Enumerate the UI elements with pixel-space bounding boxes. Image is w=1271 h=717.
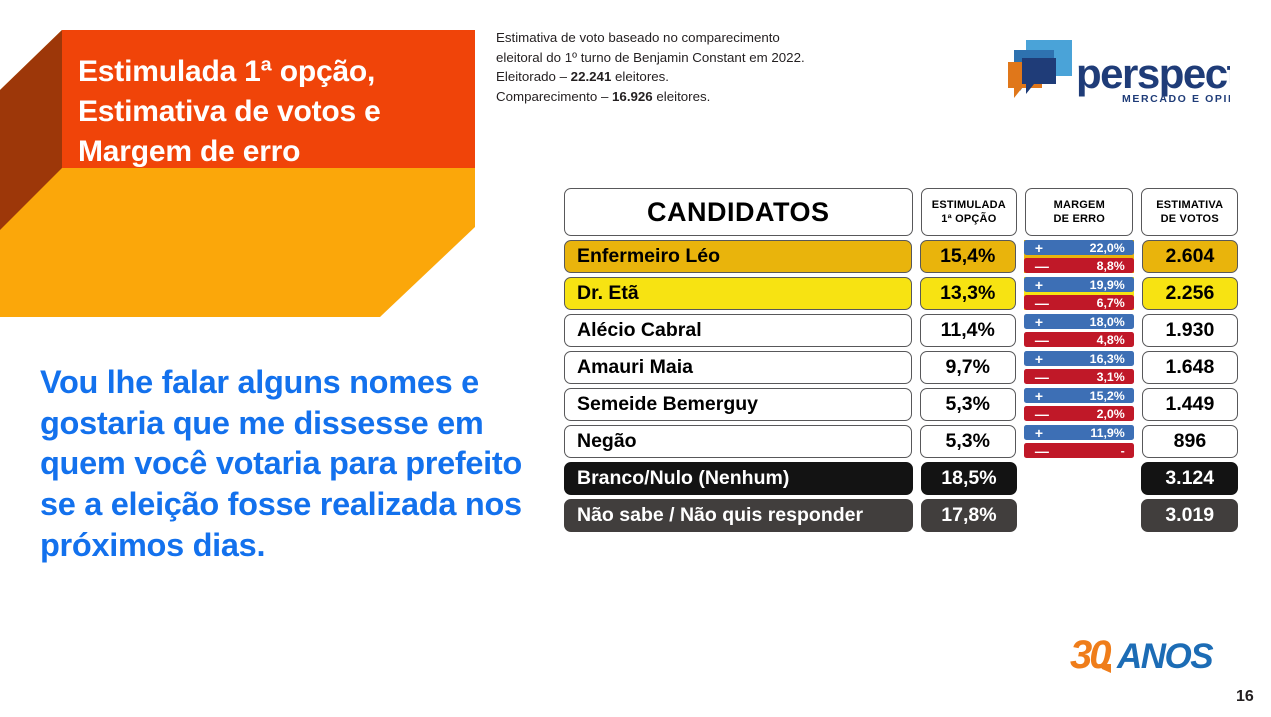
candidate-name: Negão — [564, 425, 912, 458]
candidate-percentage: 17,8% — [921, 499, 1018, 532]
margin-plus-value: 11,9% — [1090, 426, 1124, 440]
table-row: Dr. Etã13,3%+19,9%—6,7%2.256 — [564, 277, 1238, 310]
turnout-label: Comparecimento – — [496, 89, 612, 104]
margin-plus-value: 15,2% — [1090, 389, 1125, 403]
estimated-votes: 3.124 — [1141, 462, 1238, 495]
candidate-percentage: 9,7% — [920, 351, 1016, 384]
minus-sign-icon: — — [1035, 259, 1049, 273]
margin-plus-value: 22,0% — [1090, 241, 1125, 255]
plus-sign-icon: + — [1035, 241, 1043, 255]
estimated-votes: 1.449 — [1142, 388, 1238, 421]
margin-of-error-cell: +15,2%—2,0% — [1024, 388, 1134, 421]
table-row: Negão5,3%+11,9%—-896 — [564, 425, 1238, 458]
table-row: Não sabe / Não quis responder17,8%3.019 — [564, 499, 1238, 532]
turnout-suffix: eleitores. — [653, 89, 711, 104]
margin-plus-value: 18,0% — [1090, 315, 1125, 329]
header-estimulada: ESTIMULADA 1ª OPÇÃO — [921, 188, 1018, 236]
table-row: Alécio Cabral11,4%+18,0%—4,8%1.930 — [564, 314, 1238, 347]
candidate-name: Branco/Nulo (Nenhum) — [564, 462, 913, 495]
table-row: Semeide Bemerguy5,3%+15,2%—2,0%1.449 — [564, 388, 1238, 421]
margin-minus-value: 6,7% — [1097, 296, 1125, 310]
margin-plus-value: 16,3% — [1090, 352, 1125, 366]
candidate-percentage: 13,3% — [920, 277, 1016, 310]
margin-of-error-cell — [1025, 499, 1133, 532]
plus-sign-icon: + — [1035, 315, 1043, 329]
margin-minus-value: - — [1121, 444, 1125, 458]
candidate-percentage: 5,3% — [920, 388, 1016, 421]
estimated-votes: 2.256 — [1142, 277, 1238, 310]
margin-plus-bar: +22,0% — [1024, 240, 1134, 255]
anniversary-logo-icon: 30 ANOS — [1070, 632, 1220, 678]
table-header-row: CANDIDATOS ESTIMULADA 1ª OPÇÃO MARGEM DE… — [564, 188, 1238, 236]
plus-sign-icon: + — [1035, 426, 1043, 440]
estimated-votes: 896 — [1142, 425, 1238, 458]
candidate-name: Semeide Bemerguy — [564, 388, 912, 421]
note-line-3: Eleitorado – 22.241 eleitores. — [496, 67, 896, 87]
margin-minus-bar: —4,8% — [1024, 332, 1134, 347]
methodology-note: Estimativa de voto baseado no comparecim… — [496, 28, 896, 106]
candidate-name: Não sabe / Não quis responder — [564, 499, 913, 532]
perspectiva-logo-icon: perspectiva MERCADO E OPINIÃO — [1004, 34, 1230, 106]
table-row: Branco/Nulo (Nenhum)18,5%3.124 — [564, 462, 1238, 495]
candidate-name: Amauri Maia — [564, 351, 912, 384]
margin-of-error-cell: +16,3%—3,1% — [1024, 351, 1134, 384]
minus-sign-icon: — — [1035, 296, 1049, 310]
margin-of-error-cell: +22,0%—8,8% — [1024, 240, 1134, 273]
header-estimativa-line2: DE VOTOS — [1161, 212, 1219, 226]
margin-plus-value: 19,9% — [1090, 278, 1125, 292]
candidate-percentage: 11,4% — [920, 314, 1016, 347]
plus-sign-icon: + — [1035, 389, 1043, 403]
margin-plus-bar: +19,9% — [1024, 277, 1134, 292]
electorate-label: Eleitorado – — [496, 69, 571, 84]
margin-plus-bar: +18,0% — [1024, 314, 1134, 329]
estimated-votes: 3.019 — [1141, 499, 1238, 532]
anniversary-logo: 30 ANOS — [1070, 632, 1220, 678]
margin-minus-bar: —3,1% — [1024, 369, 1134, 384]
minus-sign-icon: — — [1035, 444, 1049, 458]
candidate-percentage: 5,3% — [920, 425, 1016, 458]
margin-minus-value: 8,8% — [1097, 259, 1125, 273]
candidate-name: Alécio Cabral — [564, 314, 912, 347]
plus-sign-icon: + — [1035, 278, 1043, 292]
header-estimativa: ESTIMATIVA DE VOTOS — [1141, 188, 1238, 236]
question-text: Vou lhe falar alguns nomes e gostaria qu… — [40, 362, 560, 565]
electorate-value: 22.241 — [571, 69, 612, 84]
margin-of-error-cell: +11,9%—- — [1024, 425, 1134, 458]
margin-minus-value: 3,1% — [1097, 370, 1125, 384]
svg-text:30: 30 — [1070, 633, 1111, 677]
table-body: Enfermeiro Léo15,4%+22,0%—8,8%2.604Dr. E… — [564, 240, 1238, 532]
note-line-1: Estimativa de voto baseado no comparecim… — [496, 28, 896, 48]
page-title: Estimulada 1ª opção, Estimativa de votos… — [78, 52, 473, 172]
margin-minus-bar: —6,7% — [1024, 295, 1134, 310]
plus-sign-icon: + — [1035, 352, 1043, 366]
header-estimulada-line2: 1ª OPÇÃO — [941, 212, 996, 226]
margin-plus-bar: +11,9% — [1024, 425, 1134, 440]
margin-of-error-cell: +18,0%—4,8% — [1024, 314, 1134, 347]
table-row: Amauri Maia9,7%+16,3%—3,1%1.648 — [564, 351, 1238, 384]
header-margem: MARGEM DE ERRO — [1025, 188, 1133, 236]
minus-sign-icon: — — [1035, 370, 1049, 384]
margin-minus-value: 2,0% — [1097, 407, 1125, 421]
margin-plus-bar: +16,3% — [1024, 351, 1134, 366]
margin-minus-bar: —2,0% — [1024, 406, 1134, 421]
margin-of-error-cell — [1025, 462, 1133, 495]
header-estimativa-line1: ESTIMATIVA — [1156, 198, 1223, 212]
margin-of-error-cell: +19,9%—6,7% — [1024, 277, 1134, 310]
results-table: CANDIDATOS ESTIMULADA 1ª OPÇÃO MARGEM DE… — [564, 188, 1238, 532]
margin-minus-bar: —8,8% — [1024, 258, 1134, 273]
candidate-percentage: 15,4% — [920, 240, 1016, 273]
svg-text:perspectiva: perspectiva — [1076, 50, 1230, 97]
svg-text:ANOS: ANOS — [1116, 637, 1213, 676]
table-row: Enfermeiro Léo15,4%+22,0%—8,8%2.604 — [564, 240, 1238, 273]
header-margem-line1: MARGEM — [1054, 198, 1105, 212]
candidate-name: Enfermeiro Léo — [564, 240, 912, 273]
margin-minus-bar: —- — [1024, 443, 1134, 458]
candidate-name: Dr. Etã — [564, 277, 912, 310]
electorate-suffix: eleitores. — [611, 69, 669, 84]
turnout-value: 16.926 — [612, 89, 653, 104]
header-estimulada-line1: ESTIMULADA — [932, 198, 1006, 212]
margin-minus-value: 4,8% — [1097, 333, 1125, 347]
minus-sign-icon: — — [1035, 407, 1049, 421]
title-banner: Estimulada 1ª opção, Estimativa de votos… — [0, 22, 500, 342]
note-line-2: eleitoral do 1º turno de Benjamin Consta… — [496, 48, 896, 68]
svg-text:MERCADO E OPINIÃO: MERCADO E OPINIÃO — [1122, 92, 1230, 105]
estimated-votes: 2.604 — [1142, 240, 1238, 273]
note-line-4: Comparecimento – 16.926 eleitores. — [496, 87, 896, 107]
header-margem-line2: DE ERRO — [1054, 212, 1106, 226]
estimated-votes: 1.648 — [1142, 351, 1238, 384]
header-candidatos: CANDIDATOS — [564, 188, 913, 236]
margin-plus-bar: +15,2% — [1024, 388, 1134, 403]
page-number: 16 — [1236, 688, 1254, 706]
candidate-percentage: 18,5% — [921, 462, 1018, 495]
minus-sign-icon: — — [1035, 333, 1049, 347]
perspectiva-logo: perspectiva MERCADO E OPINIÃO — [1004, 34, 1230, 106]
estimated-votes: 1.930 — [1142, 314, 1238, 347]
